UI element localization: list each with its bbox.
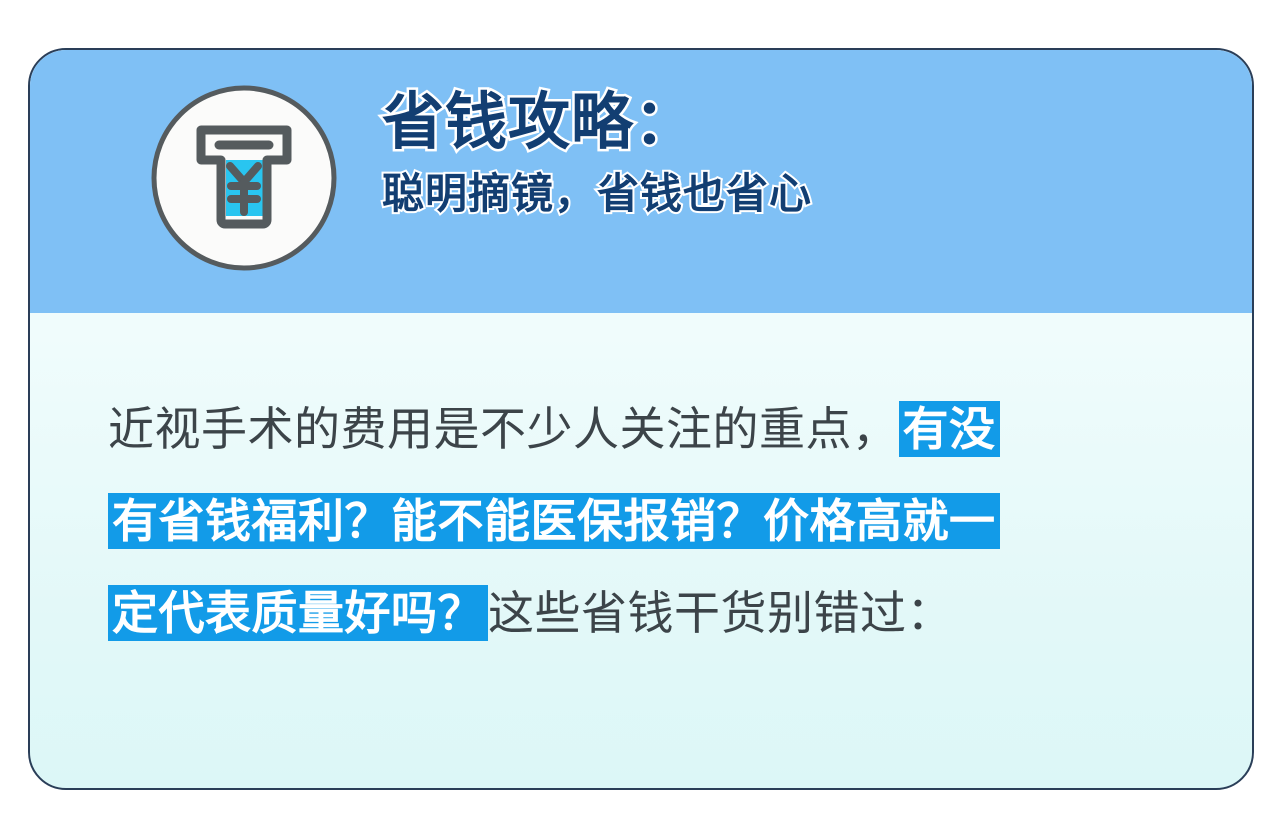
body-line: 定代表质量好吗？这些省钱干货别错过： xyxy=(30,571,1252,655)
card-subtitle: 聪明摘镜，省钱也省心 xyxy=(382,169,1212,219)
body-segment-highlight: 有没 xyxy=(899,401,1000,457)
atm-cash-yen-icon xyxy=(148,82,340,274)
body-segment-plain: 近视手术的费用是不少人关注的重点， xyxy=(108,403,899,455)
body-segment-highlight: 有省钱福利？能不能医保报销？价格高就一 xyxy=(108,493,1000,549)
card-body: 近视手术的费用是不少人关注的重点，有没 有省钱福利？能不能医保报销？价格高就一 … xyxy=(30,313,1252,655)
body-segment-highlight: 定代表质量好吗？ xyxy=(108,585,488,641)
card-title: 省钱攻略： xyxy=(382,88,1212,157)
card-header-band: 省钱攻略： 聪明摘镜，省钱也省心 xyxy=(30,50,1252,313)
title-block: 省钱攻略： 聪明摘镜，省钱也省心 xyxy=(382,88,1212,220)
body-line: 近视手术的费用是不少人关注的重点，有没 xyxy=(30,387,1252,471)
info-card: 省钱攻略： 聪明摘镜，省钱也省心 近视手术的费用是不少人关注的重点，有没 有省钱… xyxy=(28,48,1254,790)
body-line: 有省钱福利？能不能医保报销？价格高就一 xyxy=(30,479,1252,563)
body-segment-plain: 这些省钱干货别错过： xyxy=(488,587,953,639)
